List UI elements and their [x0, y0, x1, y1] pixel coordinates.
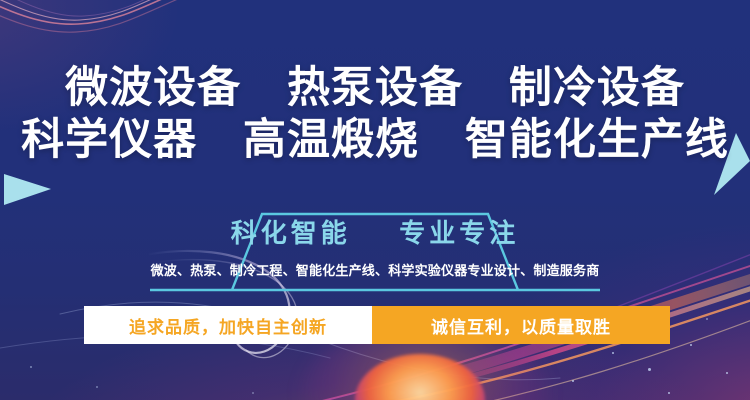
subtitle: 微波、热泵、制冷工程、智能化生产线、科学实验仪器专业设计、制造服务商	[0, 262, 750, 280]
tagline: 科化智能 专业专注	[0, 216, 750, 250]
headline-item: 制冷设备	[509, 64, 685, 112]
promo-banner: 微波设备 热泵设备 制冷设备 科学仪器 高温煅烧 智能化生产线 科化智能 专业专…	[0, 0, 750, 400]
slogan-bar-primary[interactable]: 追求品质，加快自主创新	[84, 306, 372, 344]
headline-item: 微波设备	[65, 64, 241, 112]
tagline-right: 专业专注	[399, 218, 519, 248]
tagline-left: 科化智能	[231, 218, 351, 248]
headline-item: 热泵设备	[287, 64, 463, 112]
slogan-bar-group: 追求品质，加快自主创新 诚信互利，以质量取胜	[84, 306, 670, 344]
slogan-bar-secondary[interactable]: 诚信互利，以质量取胜	[372, 306, 670, 344]
headline-line-2: 科学仪器 高温煅烧 智能化生产线	[0, 114, 750, 166]
headline-line-1: 微波设备 热泵设备 制冷设备	[0, 62, 750, 114]
triangle-right-icon	[4, 174, 51, 205]
headline-item: 高温煅烧	[243, 116, 419, 164]
headline: 微波设备 热泵设备 制冷设备 科学仪器 高温煅烧 智能化生产线	[0, 62, 750, 166]
headline-item: 智能化生产线	[465, 116, 729, 164]
headline-item: 科学仪器	[21, 116, 197, 164]
